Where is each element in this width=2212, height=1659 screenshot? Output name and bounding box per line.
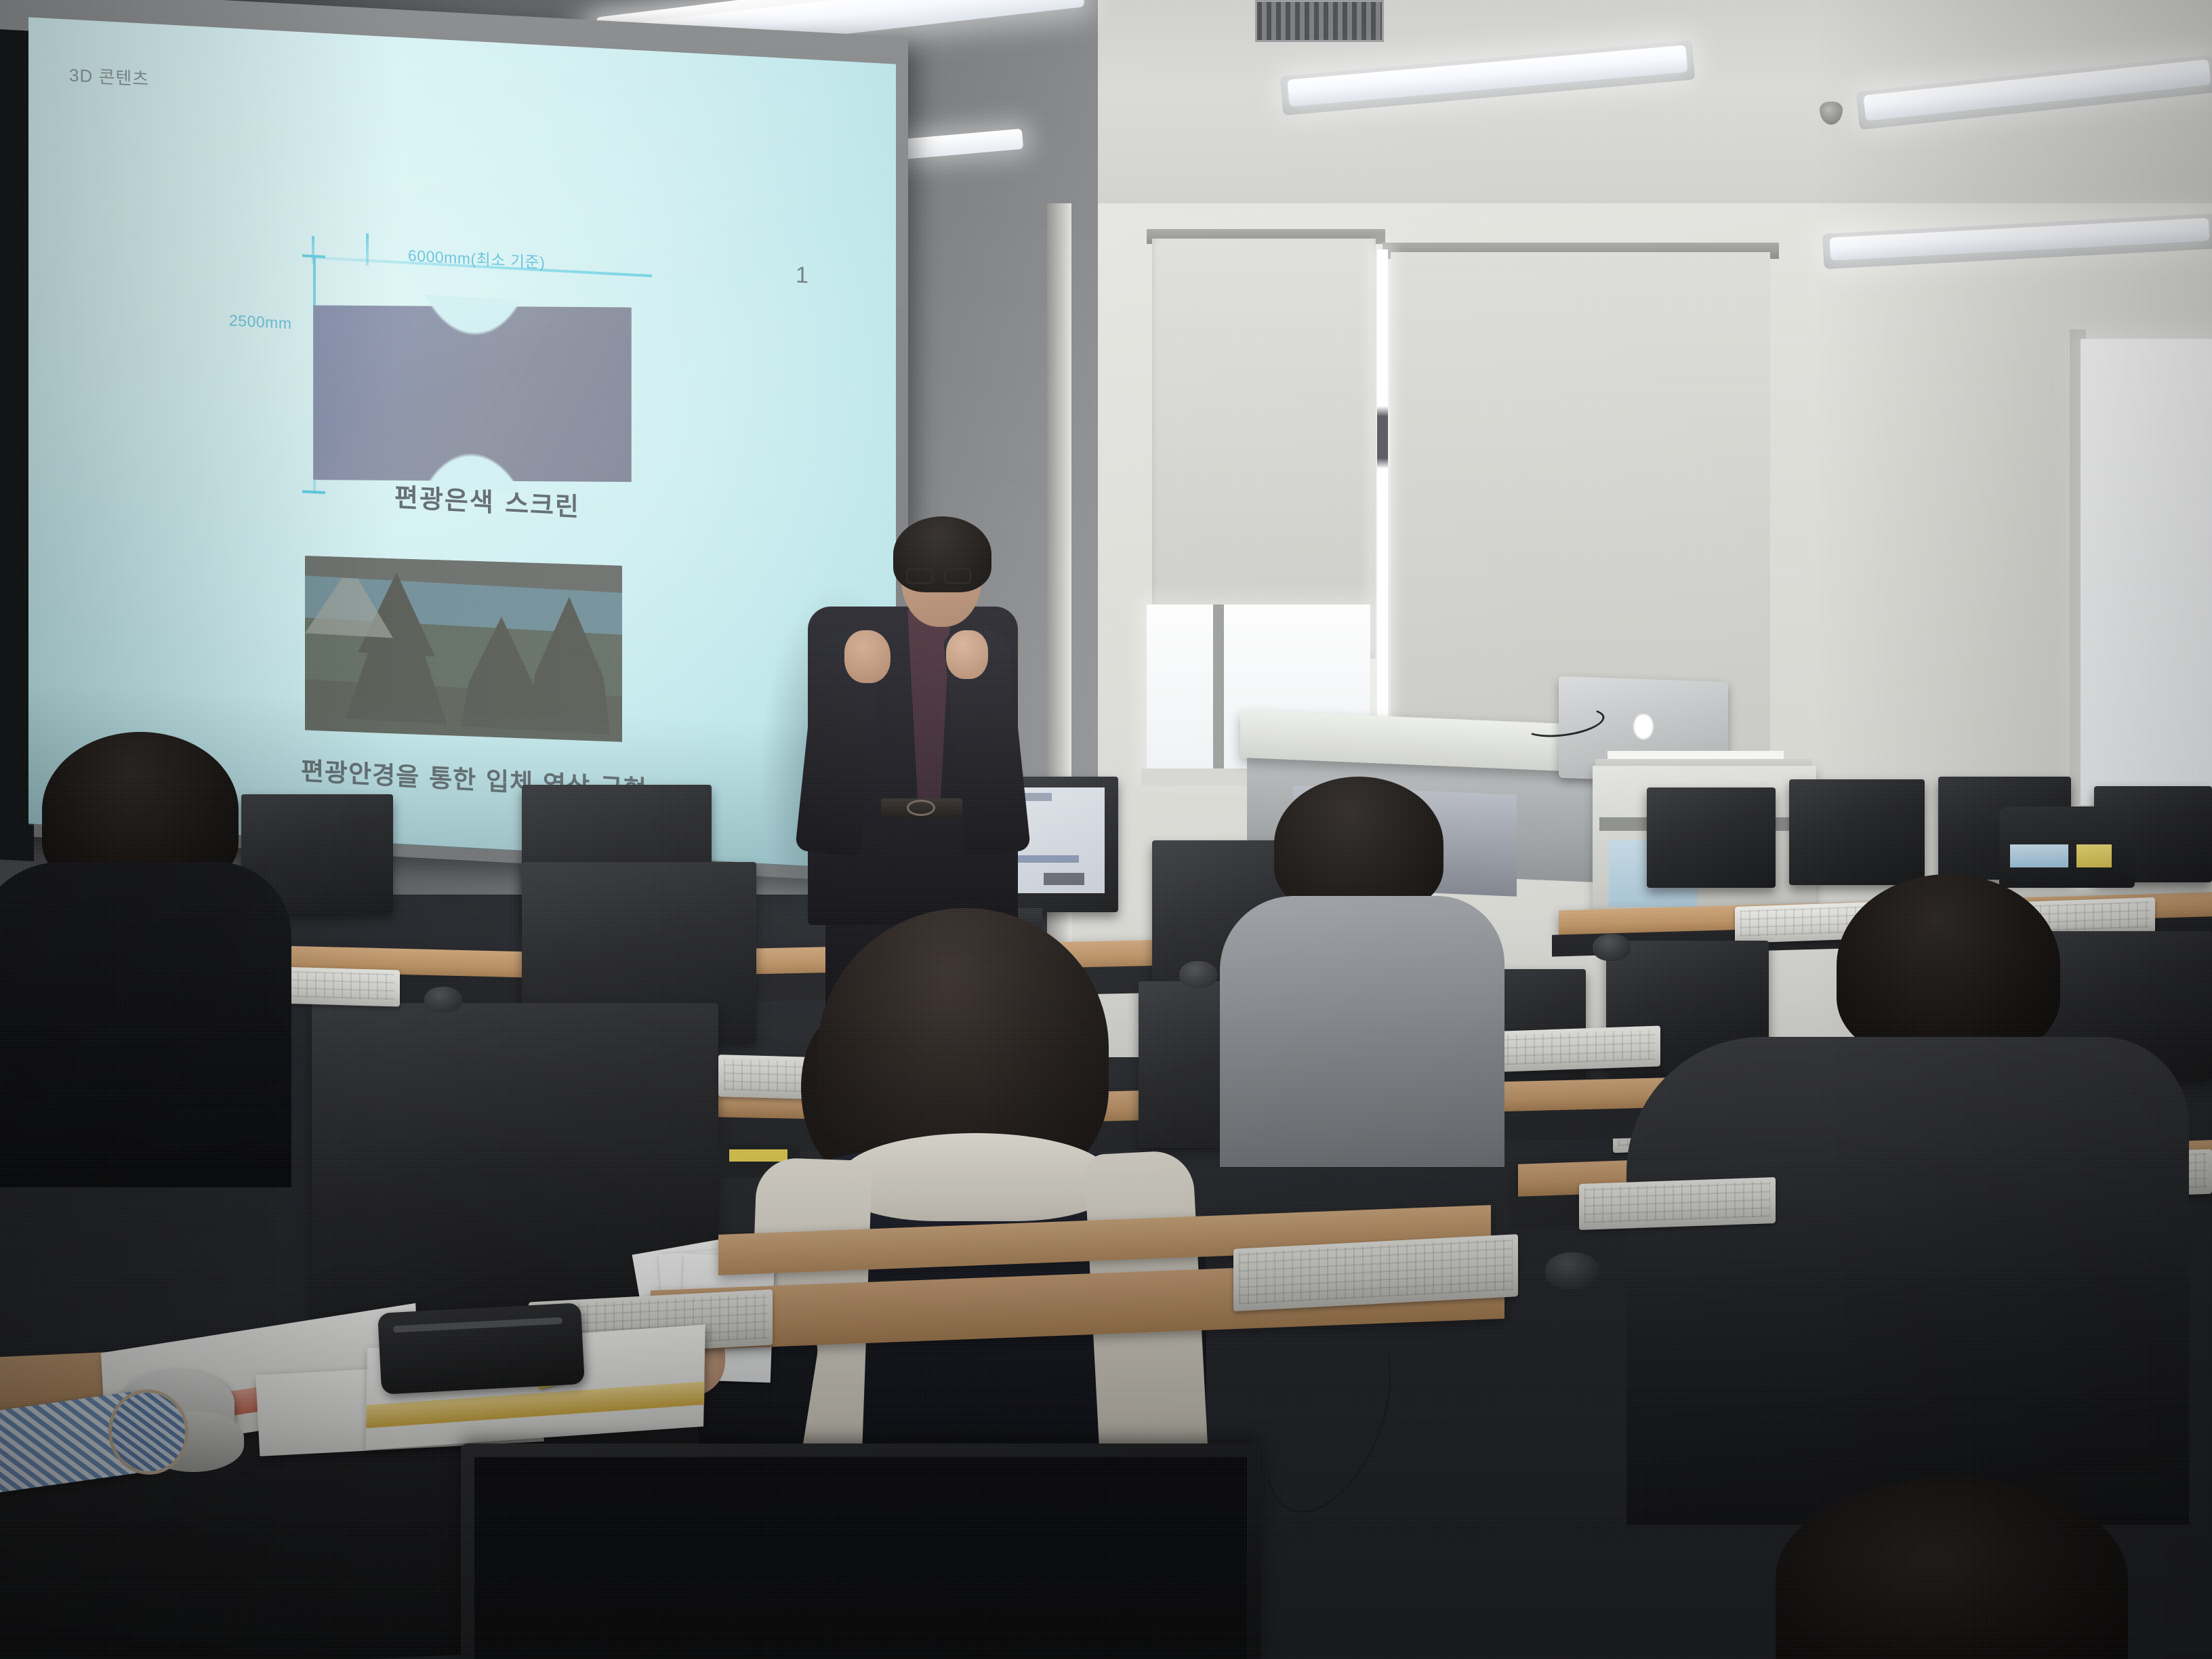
pc-tower-sticker <box>2010 844 2068 867</box>
mouse[interactable] <box>1593 934 1631 961</box>
blind-light-gap <box>1377 249 1388 771</box>
ceiling-vent-grille <box>1255 0 1384 42</box>
monitor <box>1647 787 1776 888</box>
student-left-front-body <box>0 862 291 1187</box>
roller-blind-left[interactable] <box>1152 239 1376 659</box>
dim-cap-top <box>302 254 325 258</box>
apple-logo-icon <box>1632 714 1655 741</box>
presenter-hand-left <box>844 630 890 683</box>
pc-tower-sticker <box>2076 844 2112 867</box>
screen-text-line <box>1044 873 1084 885</box>
presenter-hand-right <box>946 630 988 679</box>
keyboard[interactable] <box>1484 1025 1660 1072</box>
student-center-right-body <box>1220 896 1504 1167</box>
classroom-photo-scene: 3D 콘텐츠 1 6000mm(최소 기준) 2500mm 편광은색 스크린 편… <box>0 0 2212 1659</box>
cable <box>1240 1302 1417 1531</box>
dimension-width-label: 6000mm(최소 기준) <box>408 243 545 273</box>
scarf-neck <box>840 1133 1111 1221</box>
mouse[interactable] <box>1179 961 1217 988</box>
mouse[interactable] <box>424 987 462 1012</box>
student-center-right-head <box>1274 777 1443 912</box>
belt-buckle-icon <box>907 800 935 816</box>
keyboard[interactable] <box>1579 1177 1776 1230</box>
eyeglasses-icon <box>944 568 971 584</box>
slide-number: 1 <box>796 262 808 289</box>
dim-cap-bottom <box>302 490 325 494</box>
sticker-label <box>729 1149 787 1162</box>
mouse[interactable] <box>1545 1252 1599 1289</box>
slide-header: 3D 콘텐츠 <box>69 62 149 91</box>
student-right-front-head <box>1837 874 2060 1057</box>
eyeglasses-icon <box>906 568 933 584</box>
polarized-screen-curve-mask <box>312 289 634 500</box>
window-mullion <box>1213 605 1224 774</box>
student-right-front-body <box>1626 1037 2189 1525</box>
zip-pouch[interactable] <box>377 1303 585 1395</box>
window-right <box>2081 339 2212 806</box>
monitor-foreground-screen <box>474 1457 1247 1659</box>
dimension-height-label: 2500mm <box>229 311 291 333</box>
monitor <box>1789 779 1925 885</box>
